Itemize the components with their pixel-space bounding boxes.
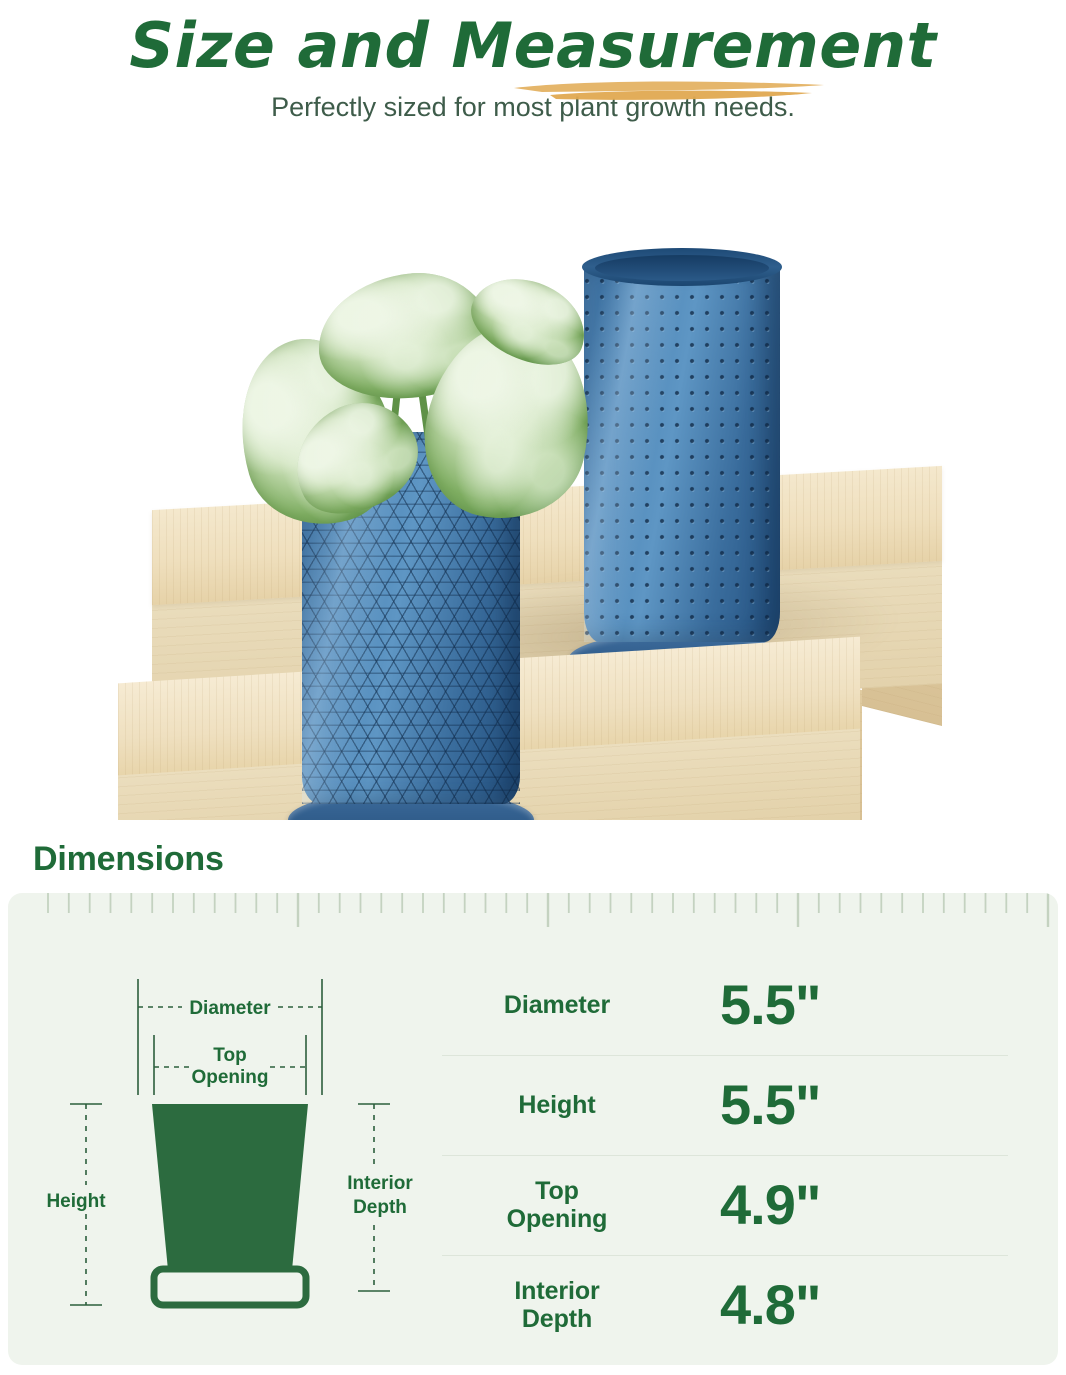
row-value: 4.8" [682,1277,1038,1333]
hobnail-pot-opening [595,255,769,281]
diagram-label-interior-depth-2: Depth [353,1197,407,1218]
row-value: 5.5" [682,977,1038,1033]
page-subtitle: Perfectly sized for most plant growth ne… [0,92,1066,123]
row-value: 5.5" [682,1077,1038,1133]
dimensions-heading: Dimensions [33,840,224,879]
diagram-label-diameter: Diameter [189,998,271,1019]
ruler-graphic [8,893,1058,935]
hobnail-pot-body [584,262,780,642]
pot-dimension-diagram: Diameter Top Opening Height Interior Dep [30,973,430,1343]
infographic-page: Size and Measurement Perfectly sized for… [0,0,1066,1375]
table-row: Height 5.5" [432,1055,1038,1155]
product-photo [0,170,1066,820]
header: Size and Measurement Perfectly sized for… [0,0,1066,170]
table-row: Diameter 5.5" [432,955,1038,1055]
title-block: Size and Measurement Perfectly sized for… [0,0,1066,123]
dimensions-panel: Diameter Top Opening Height Interior Dep [8,893,1058,1365]
row-value: 4.9" [682,1177,1038,1233]
photo-stage [0,170,1066,820]
row-label: Height [432,1091,682,1120]
row-label: Top Opening [432,1177,682,1234]
diagram-label-interior-depth-1: Interior [347,1173,413,1194]
diagram-label-height: Height [46,1191,106,1212]
row-label: Interior Depth [432,1277,682,1334]
diagram-saucer [154,1269,306,1305]
dimensions-table: Diameter 5.5" Height 5.5" Top Opening 4.… [432,955,1038,1355]
page-title: Size and Measurement [0,12,1066,80]
glaze-highlight [584,262,780,642]
table-row: Interior Depth 4.8" [432,1255,1038,1355]
diagram-label-top-opening-1: Top [213,1045,246,1066]
diagram-label-top-opening-2: Opening [191,1067,268,1088]
row-label: Diameter [432,991,682,1020]
table-row: Top Opening 4.9" [432,1155,1038,1255]
